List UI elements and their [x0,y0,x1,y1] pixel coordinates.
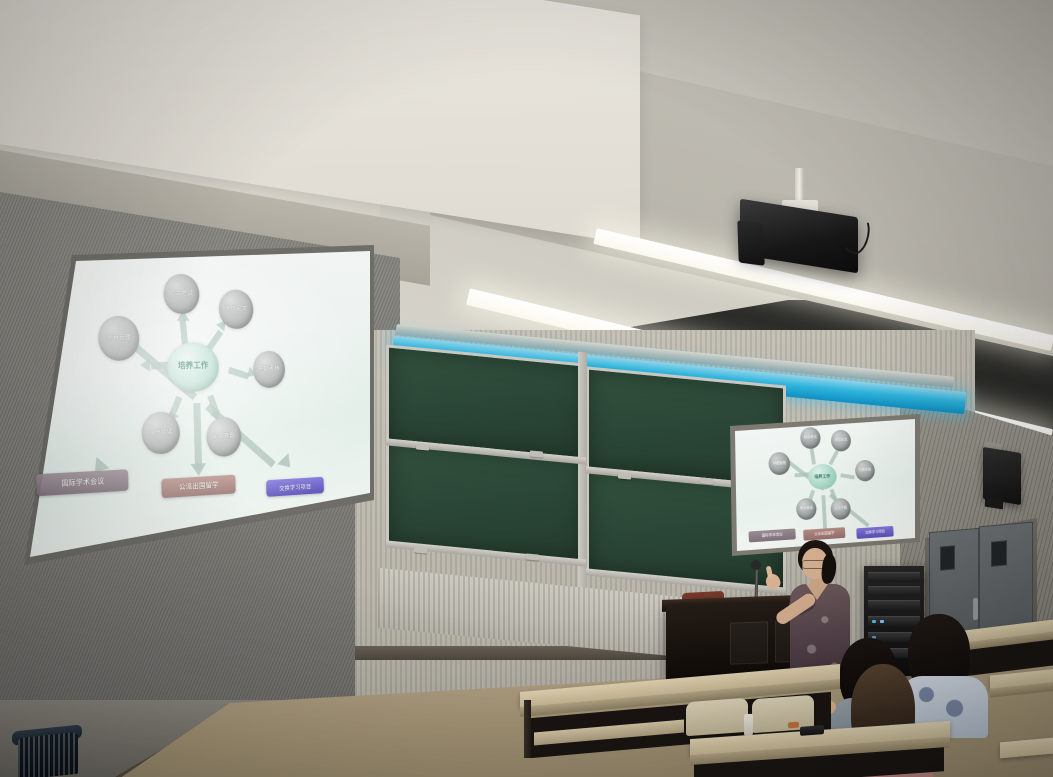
mini-node-credit-study: 学分修读 [796,498,817,521]
chip-study-abroad-label: 公派出国留学 [179,480,219,492]
node-midterm-review: 中期考核 [253,351,286,389]
water-bottle-icon[interactable] [744,714,753,737]
arrow-head-study-abroad [190,463,206,476]
mini-node-thesis-proposal-label: 论文开题 [834,507,847,511]
desk-row-second-leg-left [524,700,531,758]
seat-back-1[interactable] [686,698,748,736]
projector-mount-pole [795,168,804,204]
slide-diagram-secondary: 综合考试 学位论文 学籍管理 中期考核 学分修读 论文开题 培养工作 国际学术会… [737,418,905,544]
mini-node-degree-thesis-label: 学位论文 [835,439,848,443]
phone-icon[interactable] [800,725,824,736]
node-degree-thesis: 学位论文 [218,290,253,329]
mini-node-comprehensive-exam-label: 综合考试 [804,436,817,440]
mini-node-credit-study-label: 学分修读 [800,507,813,511]
door-window-right [991,540,1007,566]
pen-icon[interactable] [788,722,799,729]
node-thesis-proposal-label: 论文开题 [213,433,235,440]
node-credit-study-label: 学分修读 [149,429,172,436]
mini-node-comprehensive-exam: 综合考试 [800,427,821,449]
node-midterm-review-label: 中期考核 [258,366,280,372]
microphone-icon [751,560,761,570]
mini-node-center-label: 培养工作 [814,474,830,479]
lecture-hall-photo: 综合考试 学位论文 学籍管理 中期考核 学分修读 论文开题 培养工作 国际学术会… [0,0,1053,777]
mini-arrow-4 [840,473,855,479]
node-comprehensive-exam: 综合考试 [163,274,200,314]
mini-arrow-abroad [821,495,827,530]
arrow-head-exchange-program [277,453,295,473]
mini-node-midterm-review: 中期考核 [855,460,876,482]
chalk-clip-2 [530,450,543,457]
door-window-left [940,545,955,570]
trash-bin [18,732,78,777]
chalk-clip-3 [414,546,427,553]
chip-international-conference-label: 国际学术会议 [61,476,104,488]
arrow-to-study-abroad [193,403,202,470]
mini-node-student-status-label: 学籍管理 [773,462,786,466]
node-credit-study: 学分修读 [141,411,180,455]
node-comprehensive-exam-label: 综合考试 [170,291,193,297]
projector-lens [737,220,764,265]
mini-node-midterm-review-label: 中期考核 [859,469,872,473]
node-center-training-work: 培养工作 [167,342,220,392]
chip-exchange-program-label: 交换学习项目 [279,482,311,492]
chip-international-conference: 国际学术会议 [36,469,128,496]
chalk-clip-6 [700,477,713,484]
chalk-clip-5 [618,472,631,479]
node-student-status: 学籍管理 [98,316,140,361]
slide-diagram: 综合考试 学位论文 学籍管理 中期考核 学分修读 论文开题 培养工作 国际学术会… [36,258,336,538]
presenter-hair-side [820,553,837,584]
node-student-status-label: 学籍管理 [107,335,131,341]
mini-node-degree-thesis: 学位论文 [831,430,852,452]
node-center-label: 培养工作 [178,363,209,372]
mini-arrow-1 [810,449,816,465]
mini-chip-international-conference-label: 国际学术会议 [762,532,783,538]
chalk-clip-4 [526,553,539,560]
mini-chip-study-abroad-label: 公派出国留学 [814,531,835,537]
mini-node-center: 培养工作 [807,463,837,490]
chip-exchange-program: 交换学习项目 [266,477,324,497]
mini-chip-exchange-program-label: 交换学习项目 [865,529,885,535]
mini-arrow-2 [828,450,839,466]
node-degree-thesis-label: 学位论文 [225,306,247,312]
chalk-clip-1 [416,443,429,450]
chip-study-abroad: 公派出国留学 [161,475,236,498]
arrow-to-midterm-review [228,367,249,380]
mini-node-student-status: 学籍管理 [768,452,791,476]
node-thesis-proposal: 论文开题 [206,417,242,458]
mini-node-thesis-proposal: 论文开题 [830,498,851,521]
